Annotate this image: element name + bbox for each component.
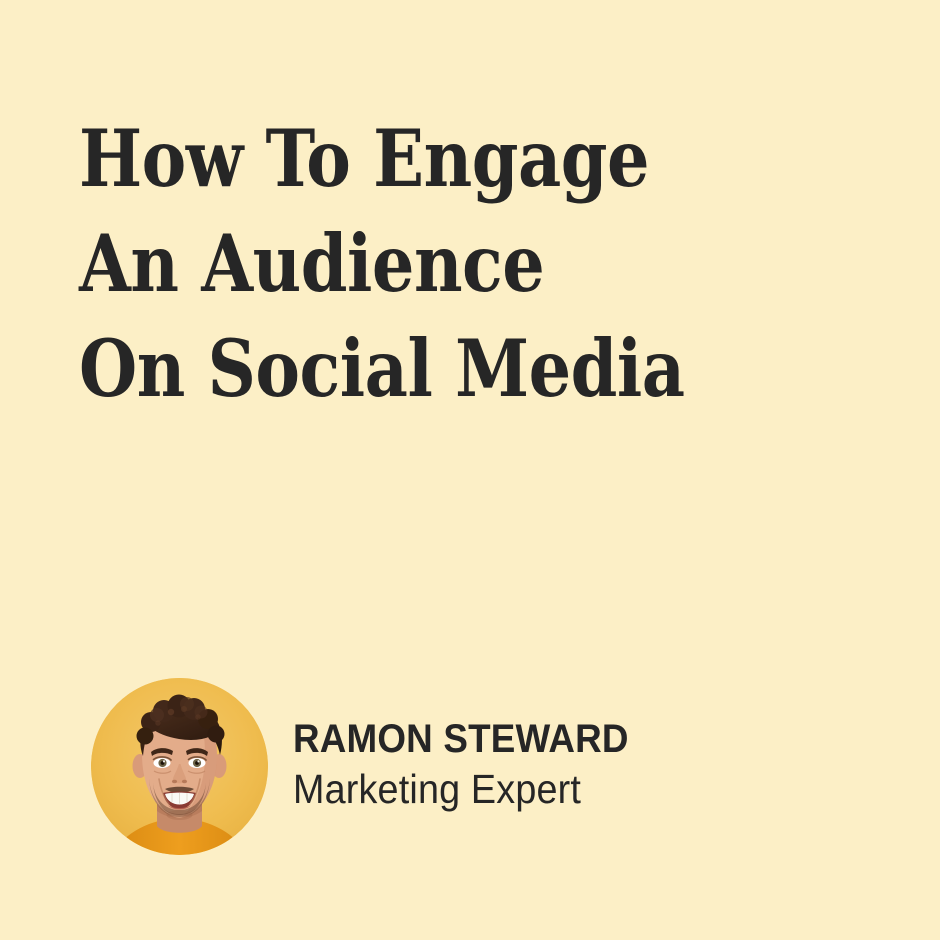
headline-line-1: How To Engage	[79, 106, 812, 211]
social-media-post-card: How To Engage An Audience On Social Medi…	[0, 0, 940, 940]
avatar	[91, 678, 268, 855]
author-role: Marketing Expert	[293, 763, 629, 815]
avatar-portrait-photo	[91, 678, 268, 855]
author-block: RAMON STEWARD Marketing Expert	[91, 678, 658, 855]
headline-line-2: An Audience	[79, 211, 812, 316]
headline-line-3: On Social Media	[79, 316, 812, 421]
page-title: How To Engage An Audience On Social Medi…	[79, 106, 859, 421]
author-text-block: RAMON STEWARD Marketing Expert	[293, 715, 658, 819]
author-name: RAMON STEWARD	[293, 715, 629, 763]
